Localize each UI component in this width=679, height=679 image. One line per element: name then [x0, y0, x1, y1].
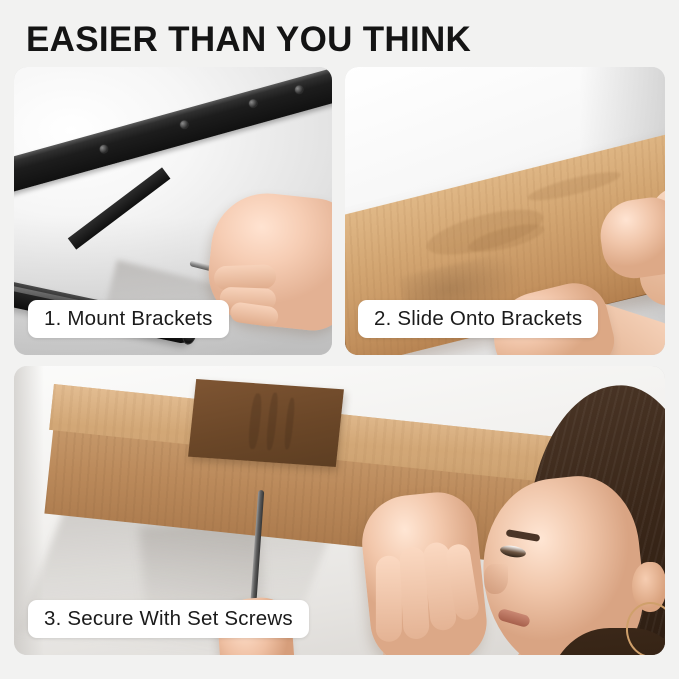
step-caption-3: 3. Secure With Set Screws — [28, 600, 309, 638]
infographic-root: EASIER THAN YOU THINK — [0, 0, 679, 679]
scene-mount-brackets: 1. Mount Brackets — [14, 67, 332, 355]
screw-icon — [179, 120, 189, 130]
wood-grain — [247, 393, 263, 449]
step-panel-2: 2. Slide Onto Brackets — [345, 67, 665, 355]
page-title: EASIER THAN YOU THINK — [26, 20, 471, 60]
step-panel-3: 3. Secure With Set Screws — [14, 366, 665, 655]
step-caption-2: 2. Slide Onto Brackets — [358, 300, 598, 338]
screw-icon — [99, 144, 109, 154]
scene-secure-with-set-screws: 3. Secure With Set Screws — [14, 366, 665, 655]
step-panel-1: 1. Mount Brackets — [14, 67, 332, 355]
finger — [214, 264, 277, 290]
wood-grain — [283, 398, 295, 450]
wood-grain — [265, 392, 279, 450]
screw-icon — [248, 99, 258, 109]
scene-slide-onto-brackets: 2. Slide Onto Brackets — [345, 67, 665, 355]
shelf-end-cap — [188, 379, 344, 467]
finger — [376, 556, 402, 642]
screw-icon — [294, 85, 304, 95]
nose — [484, 564, 508, 594]
hand-steadying-shelf — [357, 488, 490, 655]
step-caption-1: 1. Mount Brackets — [28, 300, 229, 338]
wood-grain — [527, 167, 622, 206]
